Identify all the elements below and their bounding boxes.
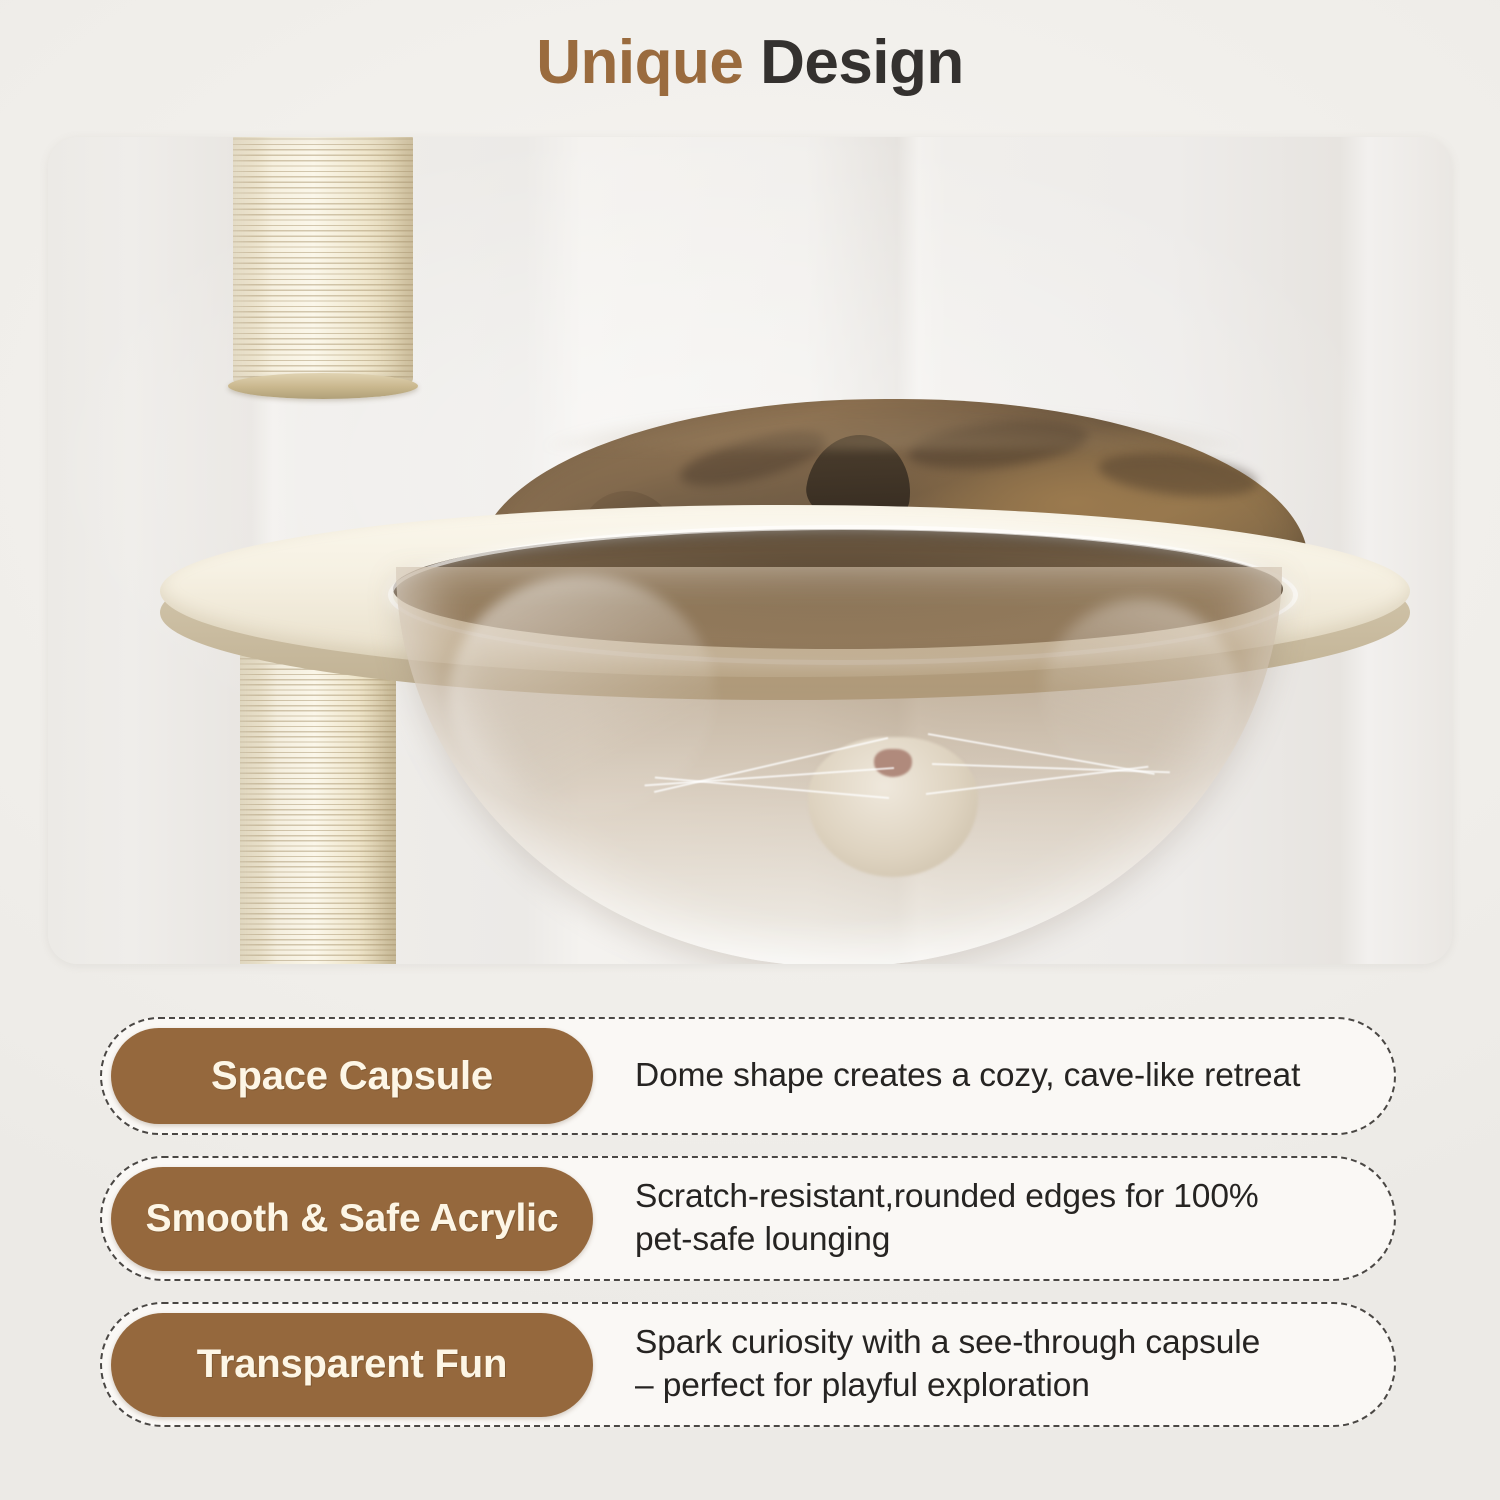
dome-highlight-secondary — [1043, 599, 1238, 791]
page-title-accent: Unique — [536, 28, 743, 97]
feature-row: Smooth & Safe Acrylic Scratch-resistant,… — [100, 1156, 1396, 1281]
cat-nose-icon — [874, 749, 912, 777]
sisal-post-upper-base — [228, 373, 418, 399]
feature-description-line: pet-safe lounging — [635, 1219, 1360, 1262]
feature-label-pill: Space Capsule — [111, 1028, 593, 1124]
feature-list: Space Capsule Dome shape creates a cozy,… — [100, 1017, 1396, 1427]
feature-description: Spark curiosity with a see-through capsu… — [593, 1322, 1394, 1408]
feature-description: Dome shape creates a cozy, cave-like ret… — [593, 1055, 1394, 1098]
feature-label-pill: Smooth & Safe Acrylic — [111, 1167, 593, 1271]
feature-description-line: Scratch-resistant,rounded edges for 100% — [635, 1176, 1360, 1219]
feature-label: Space Capsule — [211, 1054, 493, 1099]
feature-row: Space Capsule Dome shape creates a cozy,… — [100, 1017, 1396, 1135]
feature-label: Smooth & Safe Acrylic — [146, 1197, 559, 1241]
page-title: Unique Design — [536, 27, 964, 98]
product-photo — [48, 137, 1452, 964]
cat-stripe — [906, 414, 1090, 477]
sisal-post-lower-icon — [240, 653, 396, 964]
feature-label: Transparent Fun — [197, 1342, 507, 1387]
page-title-rest: Design — [760, 28, 964, 97]
feature-row: Transparent Fun Spark curiosity with a s… — [100, 1302, 1396, 1427]
feature-description-line: – perfect for playful exploration — [635, 1365, 1360, 1408]
feature-description: Scratch-resistant,rounded edges for 100%… — [593, 1176, 1394, 1262]
sisal-post-upper-icon — [233, 137, 413, 395]
page-header: Unique Design — [0, 14, 1500, 110]
feature-description-line: Dome shape creates a cozy, cave-like ret… — [635, 1055, 1360, 1098]
feature-description-line: Spark curiosity with a see-through capsu… — [635, 1322, 1360, 1365]
feature-label-pill: Transparent Fun — [111, 1313, 593, 1417]
